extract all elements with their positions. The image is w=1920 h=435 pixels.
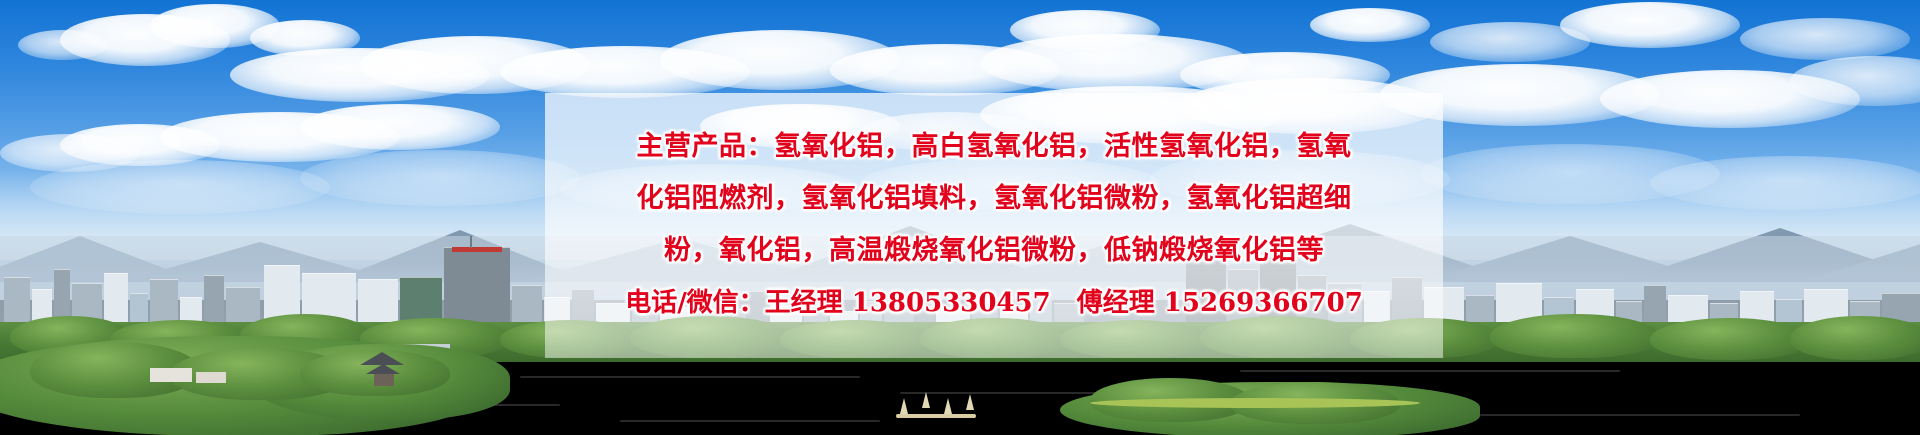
pagoda-roof (366, 364, 400, 374)
reed-grass (1090, 398, 1420, 408)
product-line-2: 化铝阻燃剂，氢氧化铝填料，氢氧化铝微粉，氢氧化铝超细 (545, 173, 1443, 225)
sailboat-sail (922, 392, 930, 408)
contact-line: 电话/微信：王经理 13805330457 傅经理 15269366707 (545, 277, 1443, 329)
promotional-banner: 主营产品：氢氧化铝，高白氢氧化铝，活性氢氧化铝，氢氧 化铝阻燃剂，氢氧化铝填料，… (0, 0, 1920, 435)
sailboat-sail (900, 398, 908, 414)
sailboat-sail (966, 394, 974, 410)
water-reflection (1240, 370, 1620, 372)
island-building (150, 368, 192, 382)
product-line-1: 主营产品：氢氧化铝，高白氢氧化铝，活性氢氧化铝，氢氧 (545, 121, 1443, 173)
island-building (196, 372, 226, 383)
pagoda-base (374, 374, 394, 386)
water-reflection (1480, 414, 1800, 416)
product-line-3: 粉，氧化铝，高温煅烧氧化铝微粉，低钠煅烧氧化铝等 (545, 225, 1443, 277)
sailboat-sail (944, 398, 952, 414)
water-reflection (620, 420, 880, 422)
promotional-text-block: 主营产品：氢氧化铝，高白氢氧化铝，活性氢氧化铝，氢氧 化铝阻燃剂，氢氧化铝填料，… (545, 93, 1443, 358)
water-reflection (520, 376, 860, 378)
sailboat-hull (896, 414, 976, 418)
